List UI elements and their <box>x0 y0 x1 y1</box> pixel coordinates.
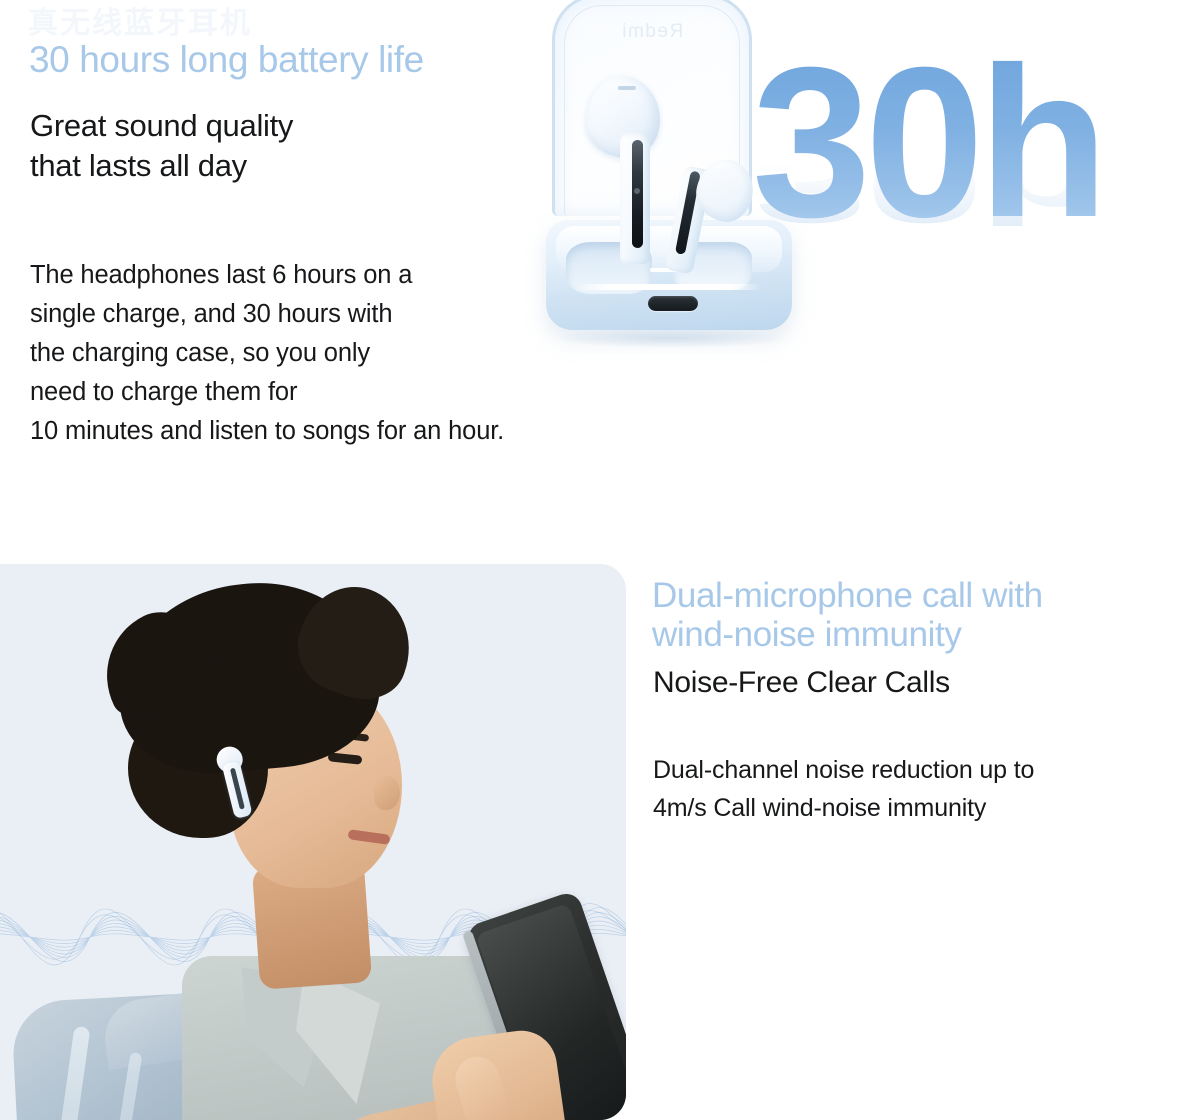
battery-body-text: The headphones last 6 hours on a single … <box>30 256 504 451</box>
battery-headline: 30 hours long battery life <box>29 40 424 79</box>
lifestyle-photo-panel <box>0 564 626 1120</box>
ghost-chinese-text-top: 真无线蓝牙耳机 <box>28 0 252 42</box>
charging-case-product-image: 30h 30h Redmi <box>540 0 1182 402</box>
redmi-brand-logo: Redmi <box>555 21 749 43</box>
earbud-left <box>586 76 666 264</box>
microphone-feature-section: 双麦通话抗风噪 双通道降噪通话 Dual-microphone call wit… <box>0 500 1182 1120</box>
usb-c-port-icon <box>648 296 698 311</box>
mic-headline: Dual-microphone call with wind-noise imm… <box>652 576 1182 654</box>
case-lid-seam <box>574 284 762 290</box>
mic-subheadline: Noise-Free Clear Calls <box>653 666 950 700</box>
earbud-left-sensor-strip <box>632 140 643 248</box>
badge-30h: 30h <box>752 36 1103 250</box>
earbud-left-vent <box>618 86 636 90</box>
battery-feature-section: 真无线蓝牙耳机 30 hours long battery life Great… <box>0 0 1182 500</box>
product-feature-page: 真无线蓝牙耳机 30 hours long battery life Great… <box>0 0 1182 1120</box>
case-drop-shadow <box>558 328 784 348</box>
mic-body-text: Dual-channel noise reduction up to 4m/s … <box>653 752 1177 827</box>
person-photo <box>0 564 626 1120</box>
battery-subheadline: Great sound quality that lasts all day <box>30 106 293 185</box>
earbud-left-mic-dot <box>634 188 640 194</box>
nose <box>374 776 400 810</box>
